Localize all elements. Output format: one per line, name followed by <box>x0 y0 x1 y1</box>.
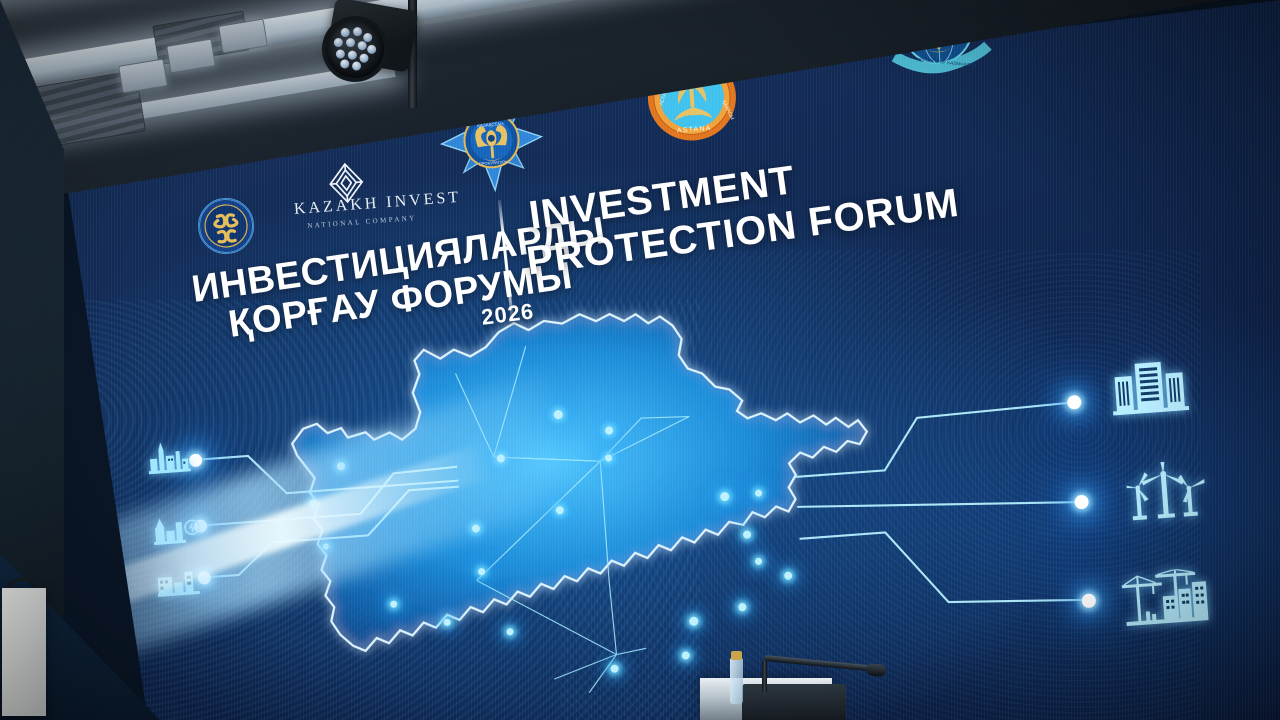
office-towers-icon <box>1107 356 1191 418</box>
wind-turbines-icon <box>1125 459 1207 523</box>
microphone-stem <box>762 660 767 694</box>
right-connector-lines <box>783 376 1120 649</box>
conference-stage-scene: KAZAKH INVEST NATIONAL COMPANY <box>0 0 1280 720</box>
podium-front-panel <box>742 684 846 720</box>
water-bottle <box>730 658 743 704</box>
ceiling <box>0 0 1280 260</box>
microphone-capsule <box>865 663 886 677</box>
construction-cranes-icon <box>1121 567 1211 627</box>
paper-shopping-bag <box>2 588 46 716</box>
oil-refinery-icon <box>145 438 193 475</box>
bottle-cap <box>731 651 742 660</box>
